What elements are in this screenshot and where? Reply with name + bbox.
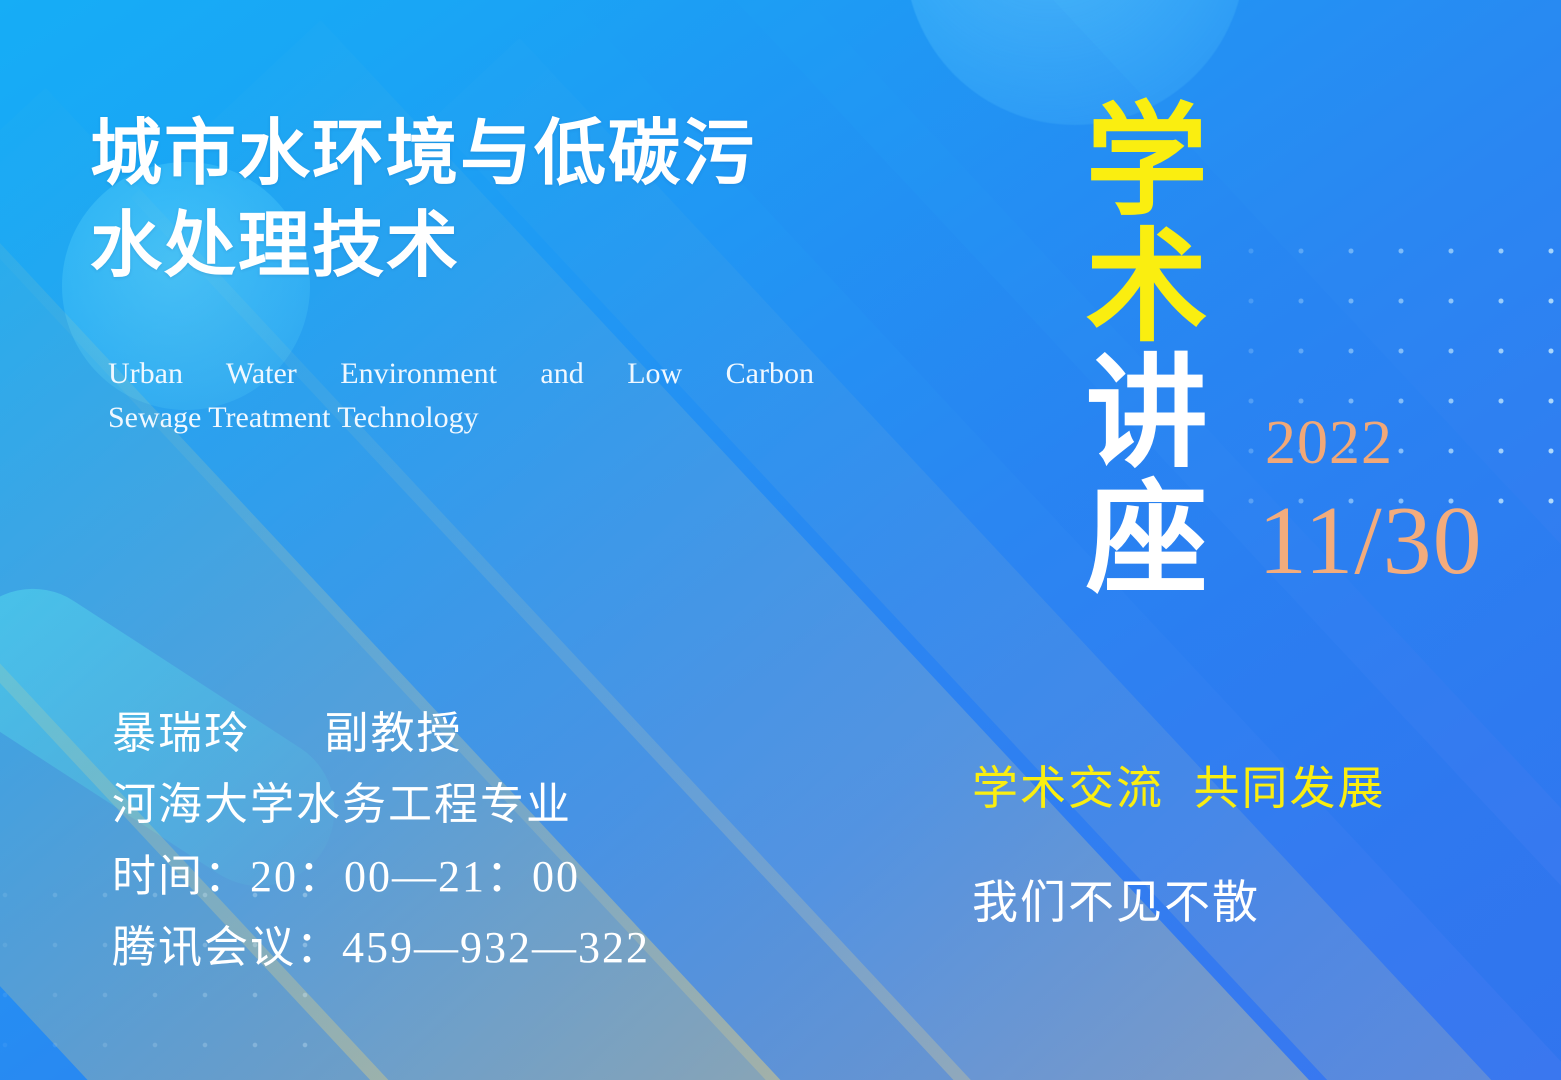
footer-closing: 我们不见不散 (972, 866, 1260, 932)
event-time: 时间：20：00—21：00 (112, 841, 650, 912)
vertical-banner-white: 讲座 (1068, 348, 1204, 600)
speaker-info-block: 暴瑞玲 副教授 河海大学水务工程专业 时间：20：00—21：00 腾讯会议：4… (112, 698, 650, 983)
footer-slogan: 学术交流 共同发展 (972, 752, 1386, 818)
speaker-name-and-title: 暴瑞玲 副教授 (112, 698, 650, 769)
vertical-banner-text: 学术讲座 (1074, 96, 1197, 600)
poster-title-chinese: 城市水环境与低碳污 水处理技术 (90, 108, 910, 292)
vertical-banner-yellow: 学术 (1068, 96, 1204, 348)
poster-canvas: 城市水环境与低碳污 水处理技术 Urban Water Environment … (0, 0, 1561, 1080)
event-date-year: 2022 (1265, 412, 1393, 474)
event-date-day: 11/30 (1258, 492, 1483, 590)
poster-content: 城市水环境与低碳污 水处理技术 Urban Water Environment … (0, 0, 1561, 1080)
speaker-affiliation: 河海大学水务工程专业 (112, 769, 650, 840)
meeting-id: 腾讯会议：459—932—322 (112, 912, 650, 983)
poster-title-english-line1: Urban Water Environment and Low Carbon (108, 352, 814, 396)
poster-title-english: Urban Water Environment and Low Carbon S… (108, 352, 814, 440)
poster-title-english-line2: Sewage Treatment Technology (108, 396, 814, 440)
